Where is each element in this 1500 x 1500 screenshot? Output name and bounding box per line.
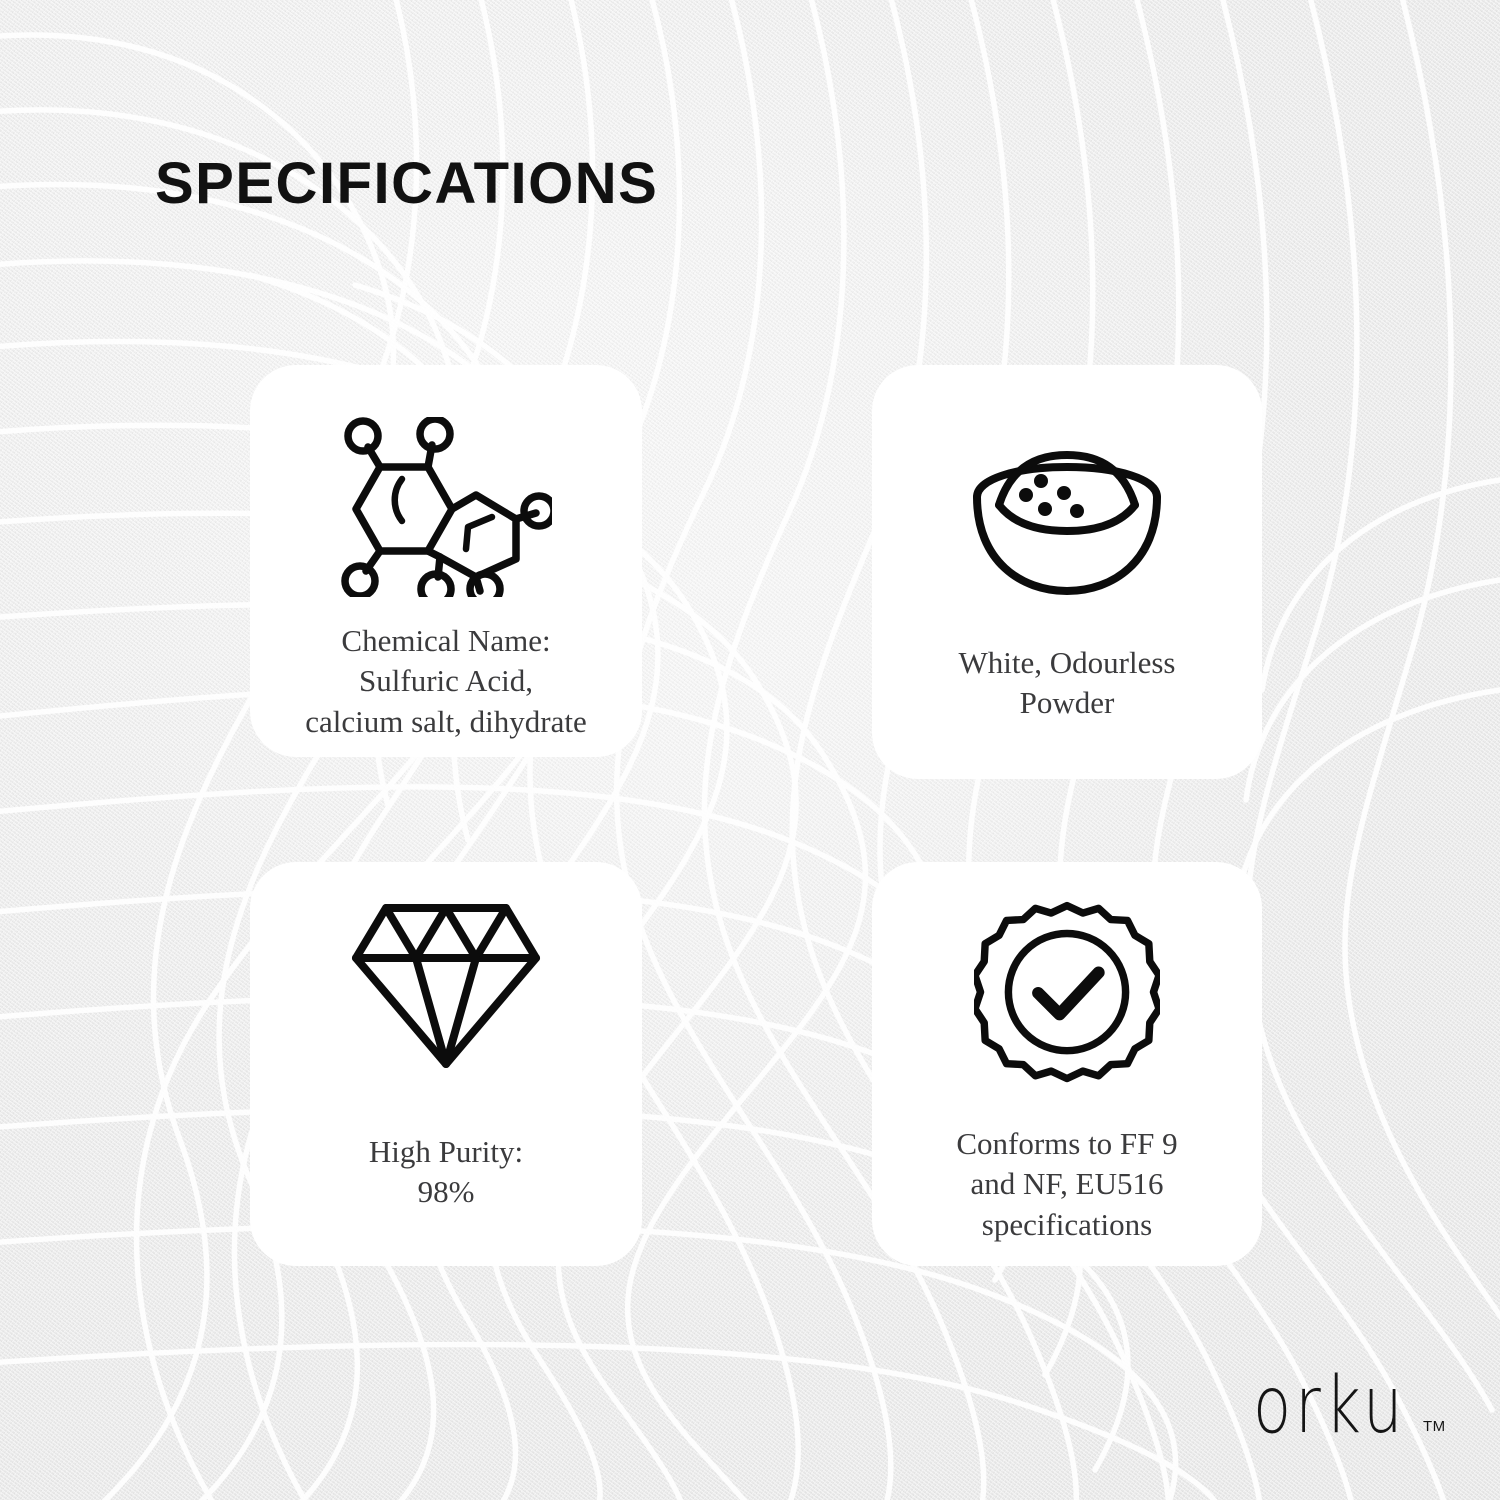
spec-card-appearance-text: White, Odourless Powder (959, 643, 1176, 724)
spec-card-chemical-name-text: Chemical Name: Sulfuric Acid, calcium sa… (305, 621, 586, 742)
spec-card-conformance-text: Conforms to FF 9 and NF, EU516 specifica… (956, 1124, 1177, 1245)
spec-card-purity: High Purity: 98% (250, 862, 642, 1266)
background-vignette (0, 0, 1500, 1500)
spec-card-appearance: White, Odourless Powder (872, 365, 1262, 779)
diamond-icon (348, 896, 544, 1074)
specifications-page: SPECIFICATIONS (0, 0, 1500, 1500)
trademark-symbol: TM (1423, 1418, 1446, 1435)
powder-bowl-icon (969, 449, 1165, 597)
page-title: SPECIFICATIONS (155, 150, 658, 217)
molecule-icon (340, 417, 552, 597)
brand-logo: orku TM (1253, 1371, 1446, 1443)
brand-logo-wordmark: orku (1253, 1371, 1407, 1443)
spec-card-conformance: Conforms to FF 9 and NF, EU516 specifica… (872, 862, 1262, 1266)
spec-card-chemical-name: Chemical Name: Sulfuric Acid, calcium sa… (250, 365, 642, 757)
verified-badge-icon (974, 900, 1160, 1086)
spec-card-purity-text: High Purity: 98% (369, 1132, 523, 1213)
